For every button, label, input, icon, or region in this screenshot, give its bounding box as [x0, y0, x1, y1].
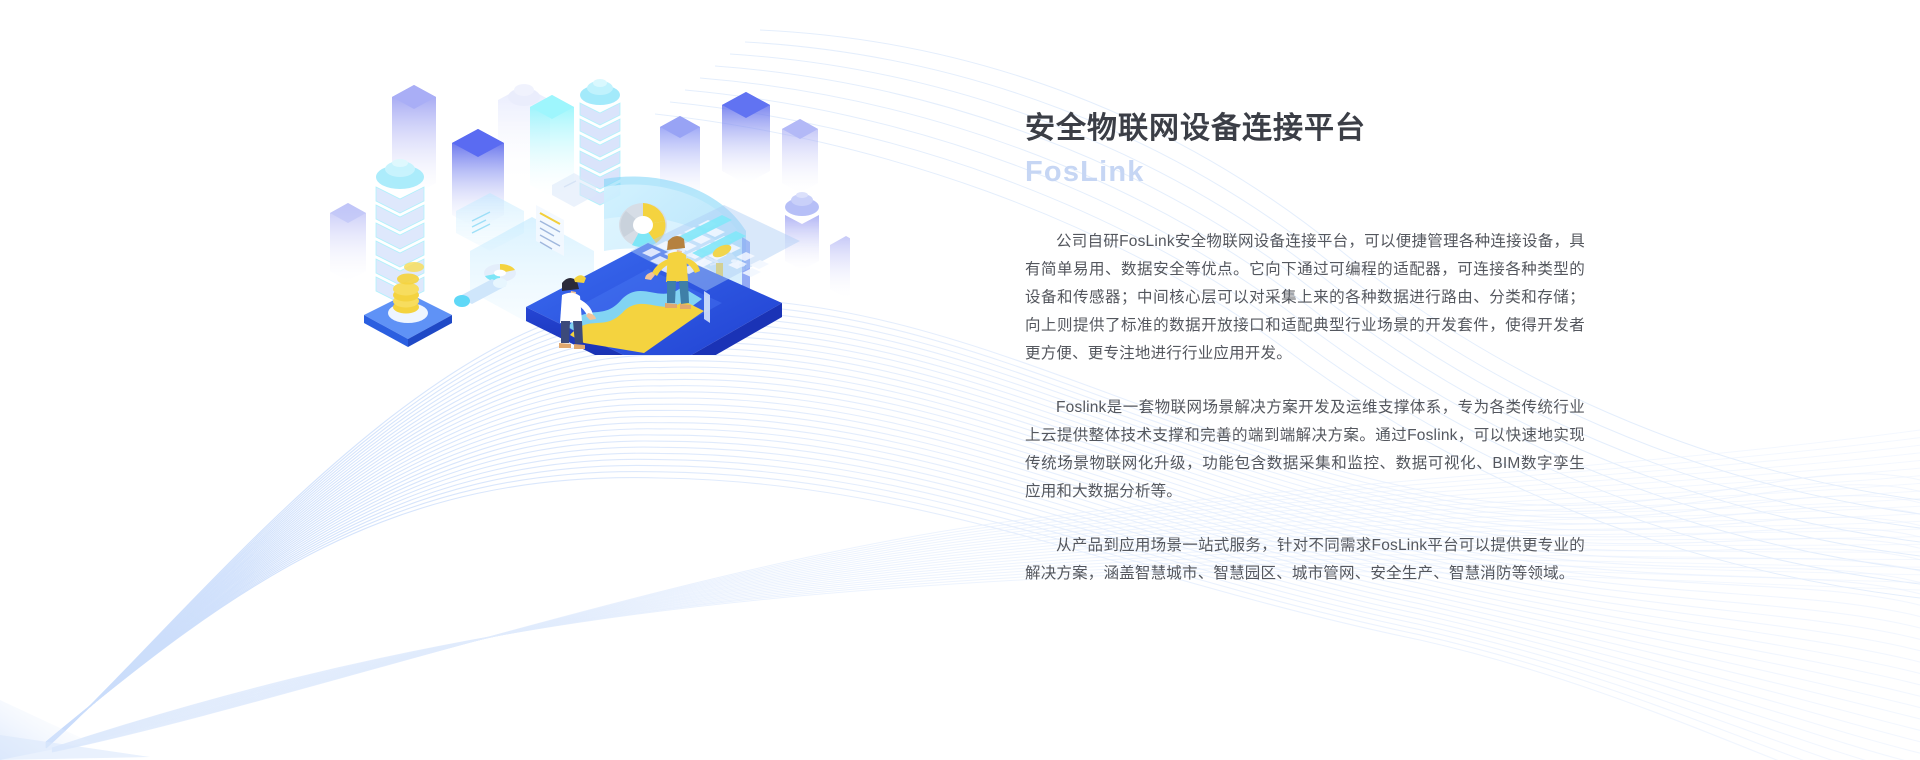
paragraph-2: Foslink是一套物联网场景解决方案开发及运维支撑体系，专为各类传统行业上云提…	[1025, 394, 1585, 506]
coin-stack	[364, 262, 452, 347]
hero-section: 安全物联网设备连接平台 FosLink 公司自研FosLink安全物联网设备连接…	[0, 0, 1920, 760]
page-subtitle: FosLink	[1025, 152, 1585, 192]
body-copy: 公司自研FosLink安全物联网设备连接平台，可以便捷管理各种连接设备，具有简单…	[1025, 228, 1585, 588]
page-title: 安全物联网设备连接平台	[1025, 108, 1585, 150]
background-wave-lines	[0, 0, 1920, 760]
iot-platform-illustration	[330, 55, 850, 355]
content-column: 安全物联网设备连接平台 FosLink 公司自研FosLink安全物联网设备连接…	[1025, 108, 1585, 588]
paragraph-1: 公司自研FosLink安全物联网设备连接平台，可以便捷管理各种连接设备，具有简单…	[1025, 228, 1585, 368]
paragraph-3: 从产品到应用场景一站式服务，针对不同需求FosLink平台可以提供更专业的解决方…	[1025, 532, 1585, 588]
